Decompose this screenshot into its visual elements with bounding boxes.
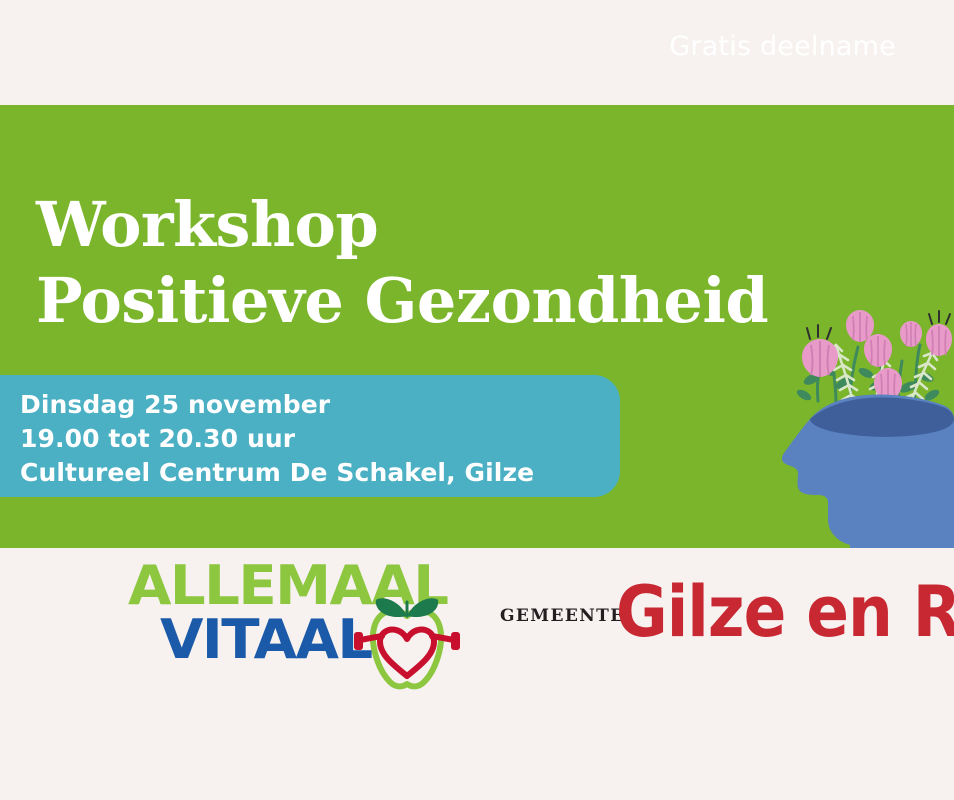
head-with-flowers-icon xyxy=(780,301,954,548)
logo-strip: ALLEMAAL VITAAL xyxy=(0,548,954,800)
event-details-box: Dinsdag 25 november 19.00 tot 20.30 uur … xyxy=(0,375,620,497)
event-location: Cultureel Centrum De Schakel, Gilze xyxy=(20,456,620,490)
allemaal-vitaal-logo: ALLEMAAL VITAAL xyxy=(120,558,470,693)
event-poster: Gratis deelname Workshop Positieve Gezon… xyxy=(0,0,954,800)
allemaal-vitaal-word-bottom: VITAAL xyxy=(160,612,372,668)
event-date: Dinsdag 25 november xyxy=(20,388,620,422)
apple-heart-dumbbell-icon xyxy=(352,594,462,694)
headline-line-2: Positieve Gezondheid xyxy=(36,263,768,339)
municipality-name: Gilze en Rijen xyxy=(616,572,954,653)
gemeente-label: GEMEENTE xyxy=(500,606,625,626)
gemeente-gilze-en-rijen-logo: GEMEENTE Gilze en Rijen xyxy=(500,568,920,678)
headline-line-1: Workshop xyxy=(36,188,378,261)
free-participation-label: Gratis deelname xyxy=(669,31,896,62)
page-title: Workshop Positieve Gezondheid xyxy=(36,187,768,338)
event-time: 19.00 tot 20.30 uur xyxy=(20,422,620,456)
green-banner: Workshop Positieve Gezondheid Dinsdag 25… xyxy=(0,105,954,548)
